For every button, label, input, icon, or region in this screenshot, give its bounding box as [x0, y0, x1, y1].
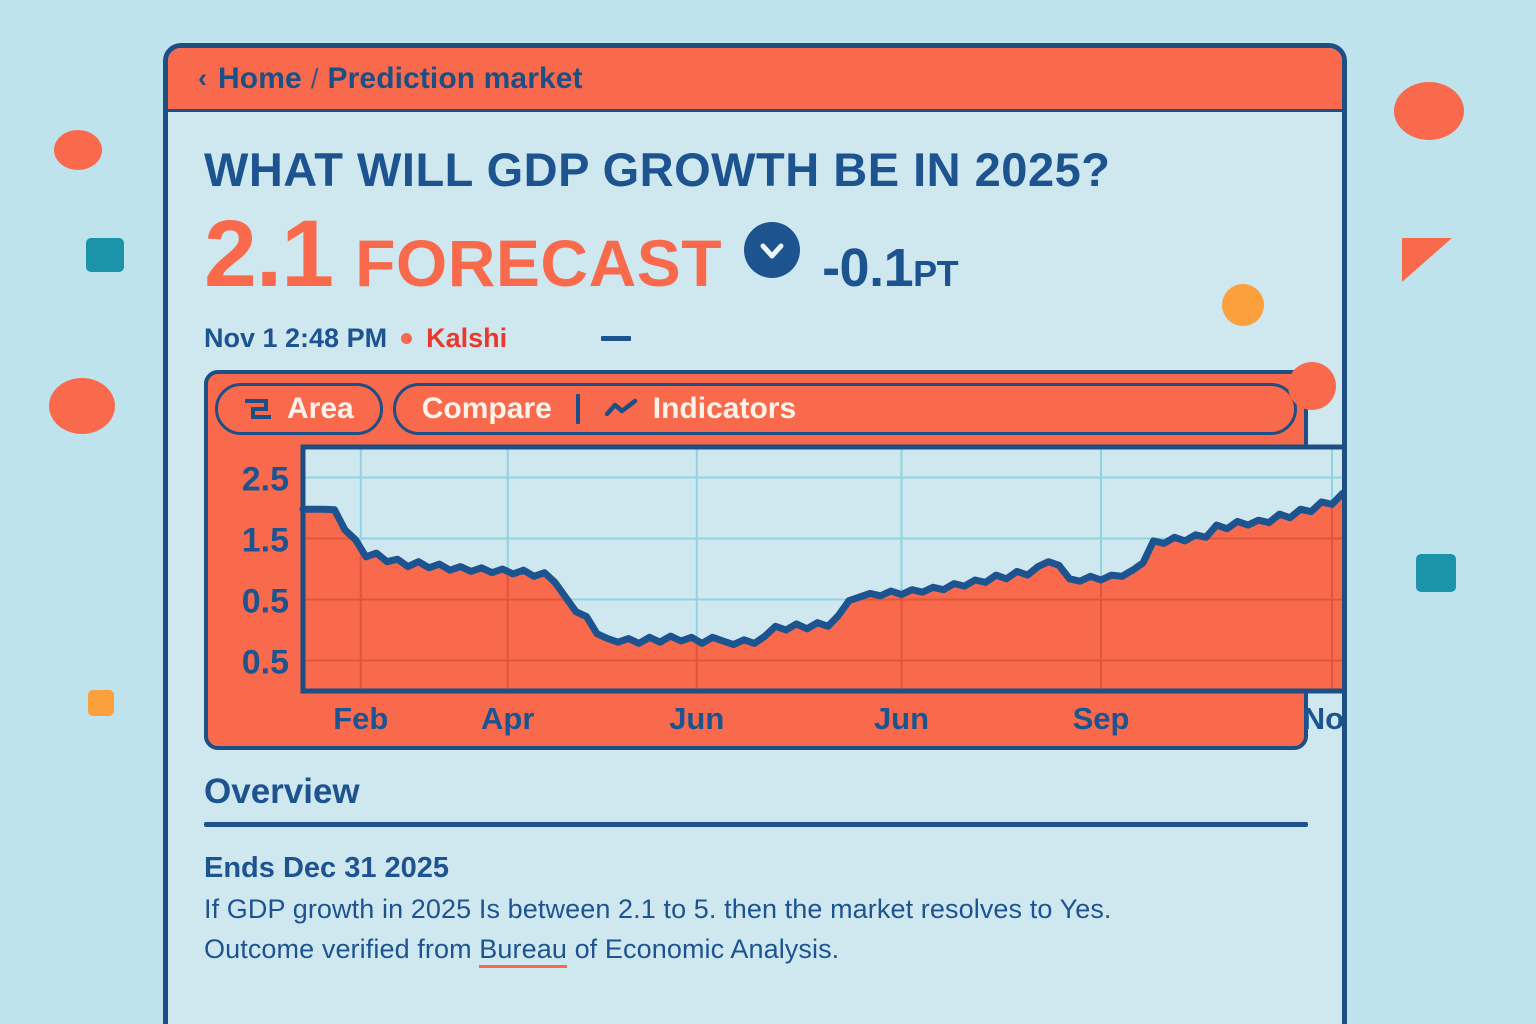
chart-toolbar: Area Compare Indicators [215, 381, 1297, 437]
decor-circle-left-1 [54, 130, 102, 170]
breadcrumb-separator: / [311, 63, 319, 95]
forecast-row: 2.1 FORECAST -0.1PT [204, 211, 1308, 301]
chart-type-area-label: Area [287, 392, 354, 426]
decor-circle-amber-inner [1222, 284, 1264, 326]
decor-square-left-amber [88, 690, 114, 716]
decor-triangle-right [1402, 238, 1452, 282]
svg-text:Jun: Jun [874, 701, 929, 736]
decor-square-right-teal [1416, 554, 1456, 592]
forecast-label: FORECAST [355, 225, 722, 301]
svg-text:Feb: Feb [333, 701, 388, 736]
overview-source-prefix: Outcome verified from [204, 934, 479, 964]
svg-text:Sep: Sep [1073, 701, 1130, 736]
overview-title: Overview [204, 772, 1308, 812]
delta-unit: PT [913, 253, 958, 294]
decor-circle-right-1 [1394, 82, 1464, 140]
page-root: ‹ Home / Prediction market WHAT WILL GDP… [0, 0, 1536, 1024]
vertical-divider-icon [576, 394, 580, 424]
compare-button[interactable]: Compare [422, 392, 552, 426]
svg-text:Jun: Jun [669, 701, 724, 736]
chart-panel: Area Compare Indicators 2.5 [204, 370, 1308, 750]
svg-text:0.5: 0.5 [242, 644, 289, 682]
source-name[interactable]: Kalshi [426, 323, 507, 354]
delta-value: -0.1PT [822, 237, 958, 299]
decor-circle-orange-inner [1288, 362, 1336, 410]
dash-icon [601, 336, 631, 341]
breadcrumb-current: Prediction market [328, 62, 583, 96]
overview-rule-text: If GDP growth in 2025 Is between 2.1 to … [204, 894, 1308, 925]
zigzag-line-icon [604, 398, 638, 420]
card-body: WHAT WILL GDP GROWTH BE IN 2025? 2.1 FOR… [168, 112, 1342, 750]
svg-text:2.5: 2.5 [242, 461, 289, 499]
svg-text:Nov: Nov [1303, 701, 1347, 736]
market-card: ‹ Home / Prediction market WHAT WILL GDP… [163, 43, 1347, 1024]
chart-tools-group: Compare Indicators [393, 383, 1297, 435]
indicators-button[interactable]: Indicators [653, 392, 796, 426]
overview-source-suffix: of Economic Analysis. [567, 934, 839, 964]
svg-text:1.5: 1.5 [242, 522, 289, 560]
chart-type-area-button[interactable]: Area [215, 383, 383, 435]
svg-text:0.5: 0.5 [242, 583, 289, 621]
breadcrumb-home-link[interactable]: Home [218, 62, 302, 96]
overview-section: Overview Ends Dec 31 2025 If GDP growth … [168, 772, 1342, 965]
chevron-left-icon[interactable]: ‹ [198, 65, 207, 92]
forecast-value: 2.1 [204, 211, 333, 298]
overview-end-date: Ends Dec 31 2025 [204, 852, 1308, 885]
chart-plot-area[interactable]: 2.51.50.50.5FebAprJunJunSepNov [215, 439, 1297, 739]
overview-source-text: Outcome verified from Bureau of Economic… [204, 934, 1308, 965]
overview-source-link[interactable]: Bureau [479, 934, 567, 968]
check-chevron-down-icon [744, 222, 800, 278]
svg-text:Apr: Apr [481, 701, 534, 736]
breadcrumb: ‹ Home / Prediction market [168, 48, 1342, 112]
dot-icon [401, 333, 412, 344]
timestamp: Nov 1 2:48 PM [204, 323, 387, 354]
page-title: WHAT WILL GDP GROWTH BE IN 2025? [204, 142, 1308, 197]
meta-row: Nov 1 2:48 PM Kalshi [204, 323, 1308, 354]
delta-number: -0.1 [822, 238, 913, 298]
area-chart-icon [244, 398, 272, 420]
decor-circle-left-2 [49, 378, 115, 434]
decor-square-left-teal [86, 238, 124, 272]
overview-divider [204, 822, 1308, 827]
